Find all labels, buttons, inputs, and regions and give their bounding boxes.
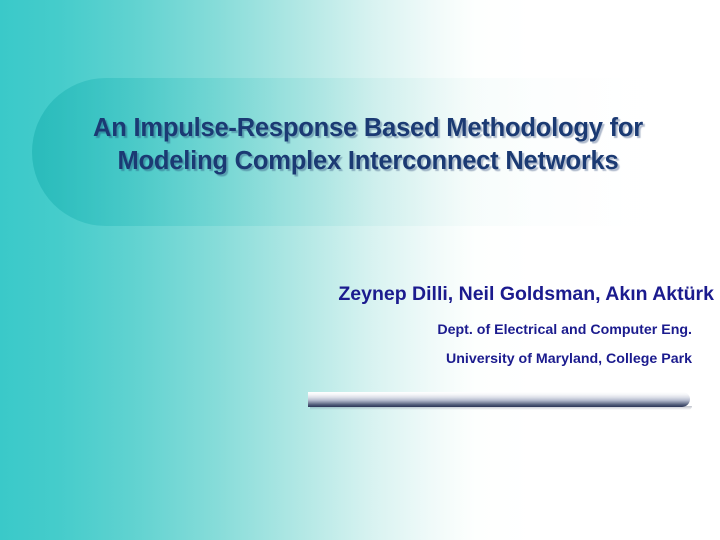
title-slide: An Impulse-Response Based Methodology fo…	[0, 0, 720, 540]
affiliation-department: Dept. of Electrical and Computer Eng.	[20, 320, 692, 340]
affiliation-university: University of Maryland, College Park	[20, 349, 692, 369]
author-list: Zeynep Dilli, Neil Goldsman, Akın Aktürk	[20, 281, 714, 307]
slide-title: An Impulse-Response Based Methodology fo…	[32, 112, 704, 178]
accent-bar	[308, 392, 690, 407]
